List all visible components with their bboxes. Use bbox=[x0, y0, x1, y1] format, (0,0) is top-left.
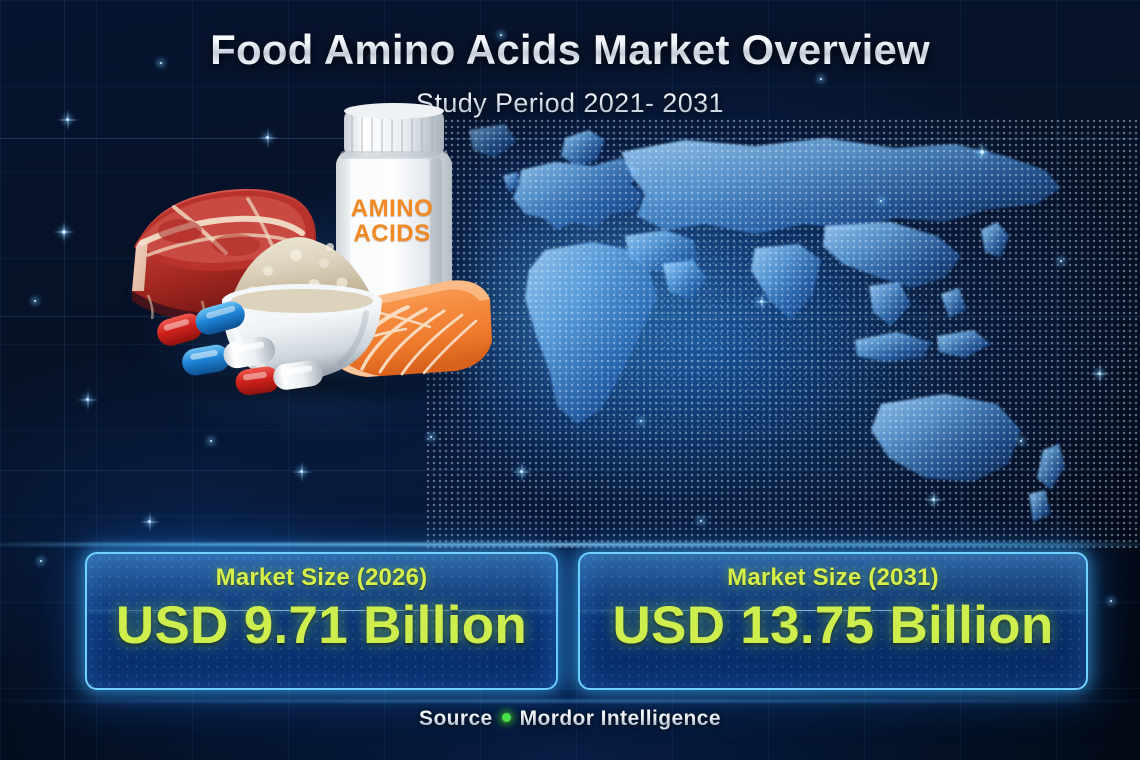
source-name: Mordor Intelligence bbox=[520, 707, 721, 730]
product-illustration bbox=[118, 95, 508, 405]
stat-value-2026: USD 9.71 Billion bbox=[87, 595, 556, 656]
stat-card-2026: Market Size (2026) USD 9.71 Billion bbox=[85, 552, 558, 690]
source-separator-dot-icon bbox=[502, 713, 511, 722]
page-title: Food Amino Acids Market Overview bbox=[0, 26, 1140, 74]
divider-beam-top bbox=[0, 543, 1140, 546]
source-label: Source bbox=[419, 707, 493, 730]
source-attribution: SourceMordor Intelligence bbox=[0, 707, 1140, 731]
stat-label-2031: Market Size (2031) bbox=[580, 564, 1086, 592]
map-halftone-texture bbox=[430, 120, 1140, 540]
infographic-canvas: Food Amino Acids Market Overview Study P… bbox=[0, 0, 1140, 760]
divider-beam-bottom bbox=[0, 700, 1140, 702]
stat-value-2031: USD 13.75 Billion bbox=[580, 595, 1086, 656]
world-map bbox=[425, 118, 1140, 548]
stat-card-2031: Market Size (2031) USD 13.75 Billion bbox=[578, 552, 1088, 690]
map-glow bbox=[470, 150, 890, 480]
stat-label-2026: Market Size (2026) bbox=[87, 564, 556, 592]
